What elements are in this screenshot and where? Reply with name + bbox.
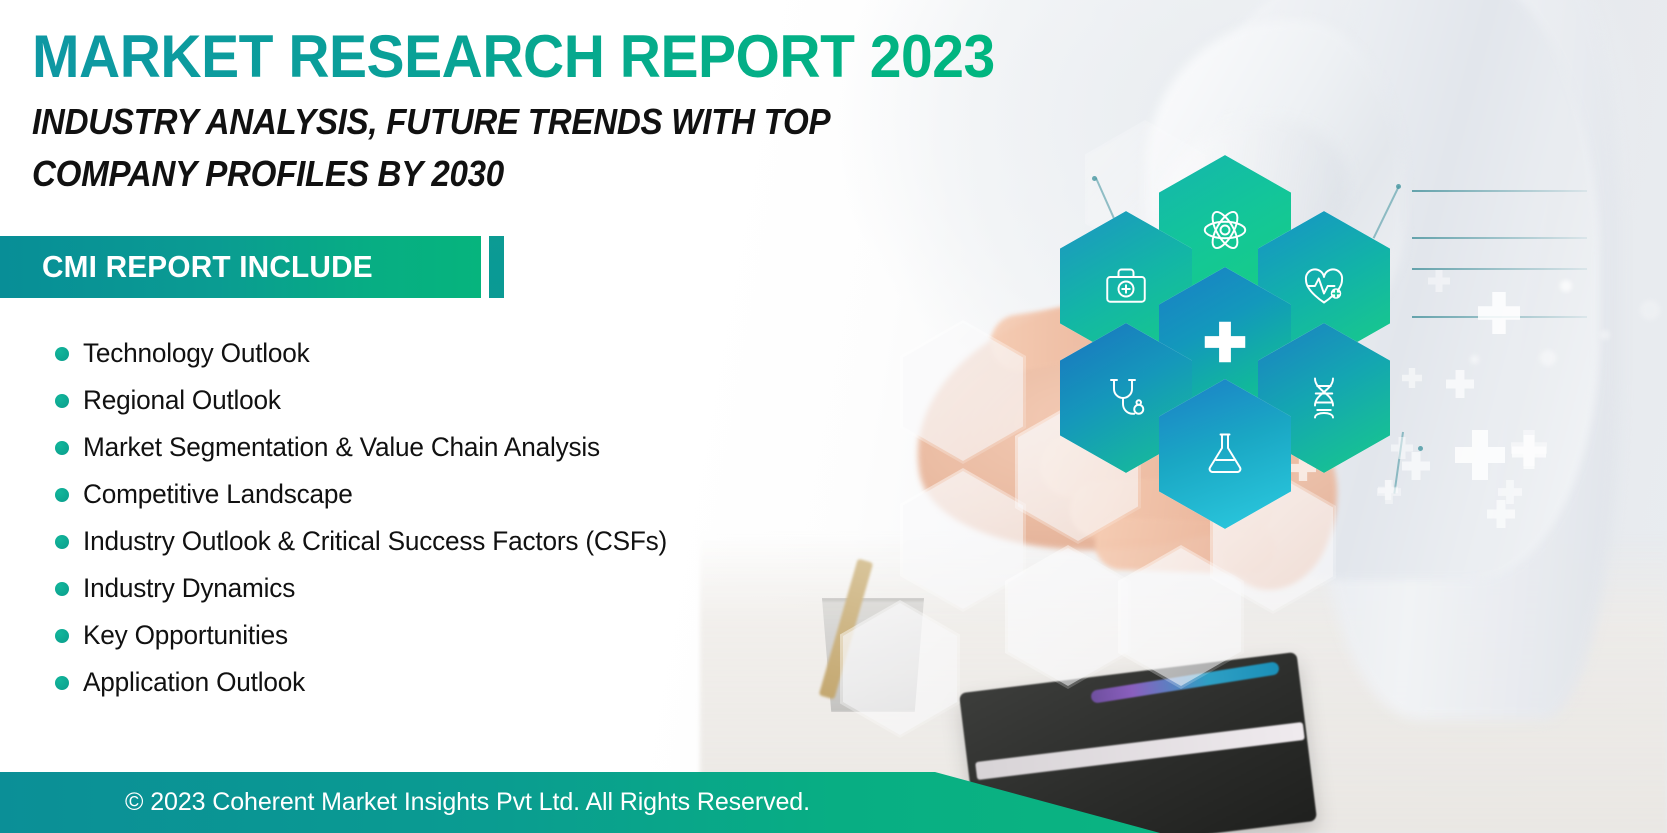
- list-item: Competitive Landscape: [55, 471, 685, 518]
- list-item: Regional Outlook: [55, 377, 685, 424]
- bullet-dot-icon: [55, 676, 69, 690]
- list-item-label: Application Outlook: [83, 667, 305, 698]
- bullet-dot-icon: [55, 394, 69, 408]
- list-item-label: Technology Outlook: [83, 338, 310, 369]
- list-item-label: Regional Outlook: [83, 385, 281, 416]
- list-item: Application Outlook: [55, 659, 685, 706]
- list-item: Industry Dynamics: [55, 565, 685, 612]
- bullet-dot-icon: [55, 582, 69, 596]
- content-layer: MARKET RESEARCH REPORT 2023 INDUSTRY ANA…: [0, 0, 1667, 833]
- bullet-dot-icon: [55, 535, 69, 549]
- footer-copyright: © 2023 Coherent Market Insights Pvt Ltd.…: [0, 772, 935, 833]
- list-item: Key Opportunities: [55, 612, 685, 659]
- list-item: Industry Outlook & Critical Success Fact…: [55, 518, 685, 565]
- bullet-dot-icon: [55, 488, 69, 502]
- list-item: Technology Outlook: [55, 330, 685, 377]
- list-item-label: Key Opportunities: [83, 620, 288, 651]
- list-item-label: Market Segmentation & Value Chain Analys…: [83, 432, 600, 463]
- market-research-report-banner: MARKET RESEARCH REPORT 2023 INDUSTRY ANA…: [0, 0, 1667, 833]
- bullet-dot-icon: [55, 441, 69, 455]
- list-item-label: Industry Dynamics: [83, 573, 295, 604]
- report-include-label: CMI REPORT INCLUDE: [42, 249, 373, 285]
- bullet-dot-icon: [55, 347, 69, 361]
- report-include-list: Technology Outlook Regional Outlook Mark…: [55, 330, 685, 706]
- list-item-label: Competitive Landscape: [83, 479, 353, 510]
- list-item: Market Segmentation & Value Chain Analys…: [55, 424, 685, 471]
- page-title: MARKET RESEARCH REPORT 2023: [32, 22, 995, 91]
- bullet-dot-icon: [55, 629, 69, 643]
- report-include-banner: CMI REPORT INCLUDE: [0, 236, 481, 298]
- page-subtitle: INDUSTRY ANALYSIS, FUTURE TRENDS WITH TO…: [32, 96, 915, 200]
- report-include-accent-bar: [489, 236, 504, 298]
- list-item-label: Industry Outlook & Critical Success Fact…: [83, 526, 667, 557]
